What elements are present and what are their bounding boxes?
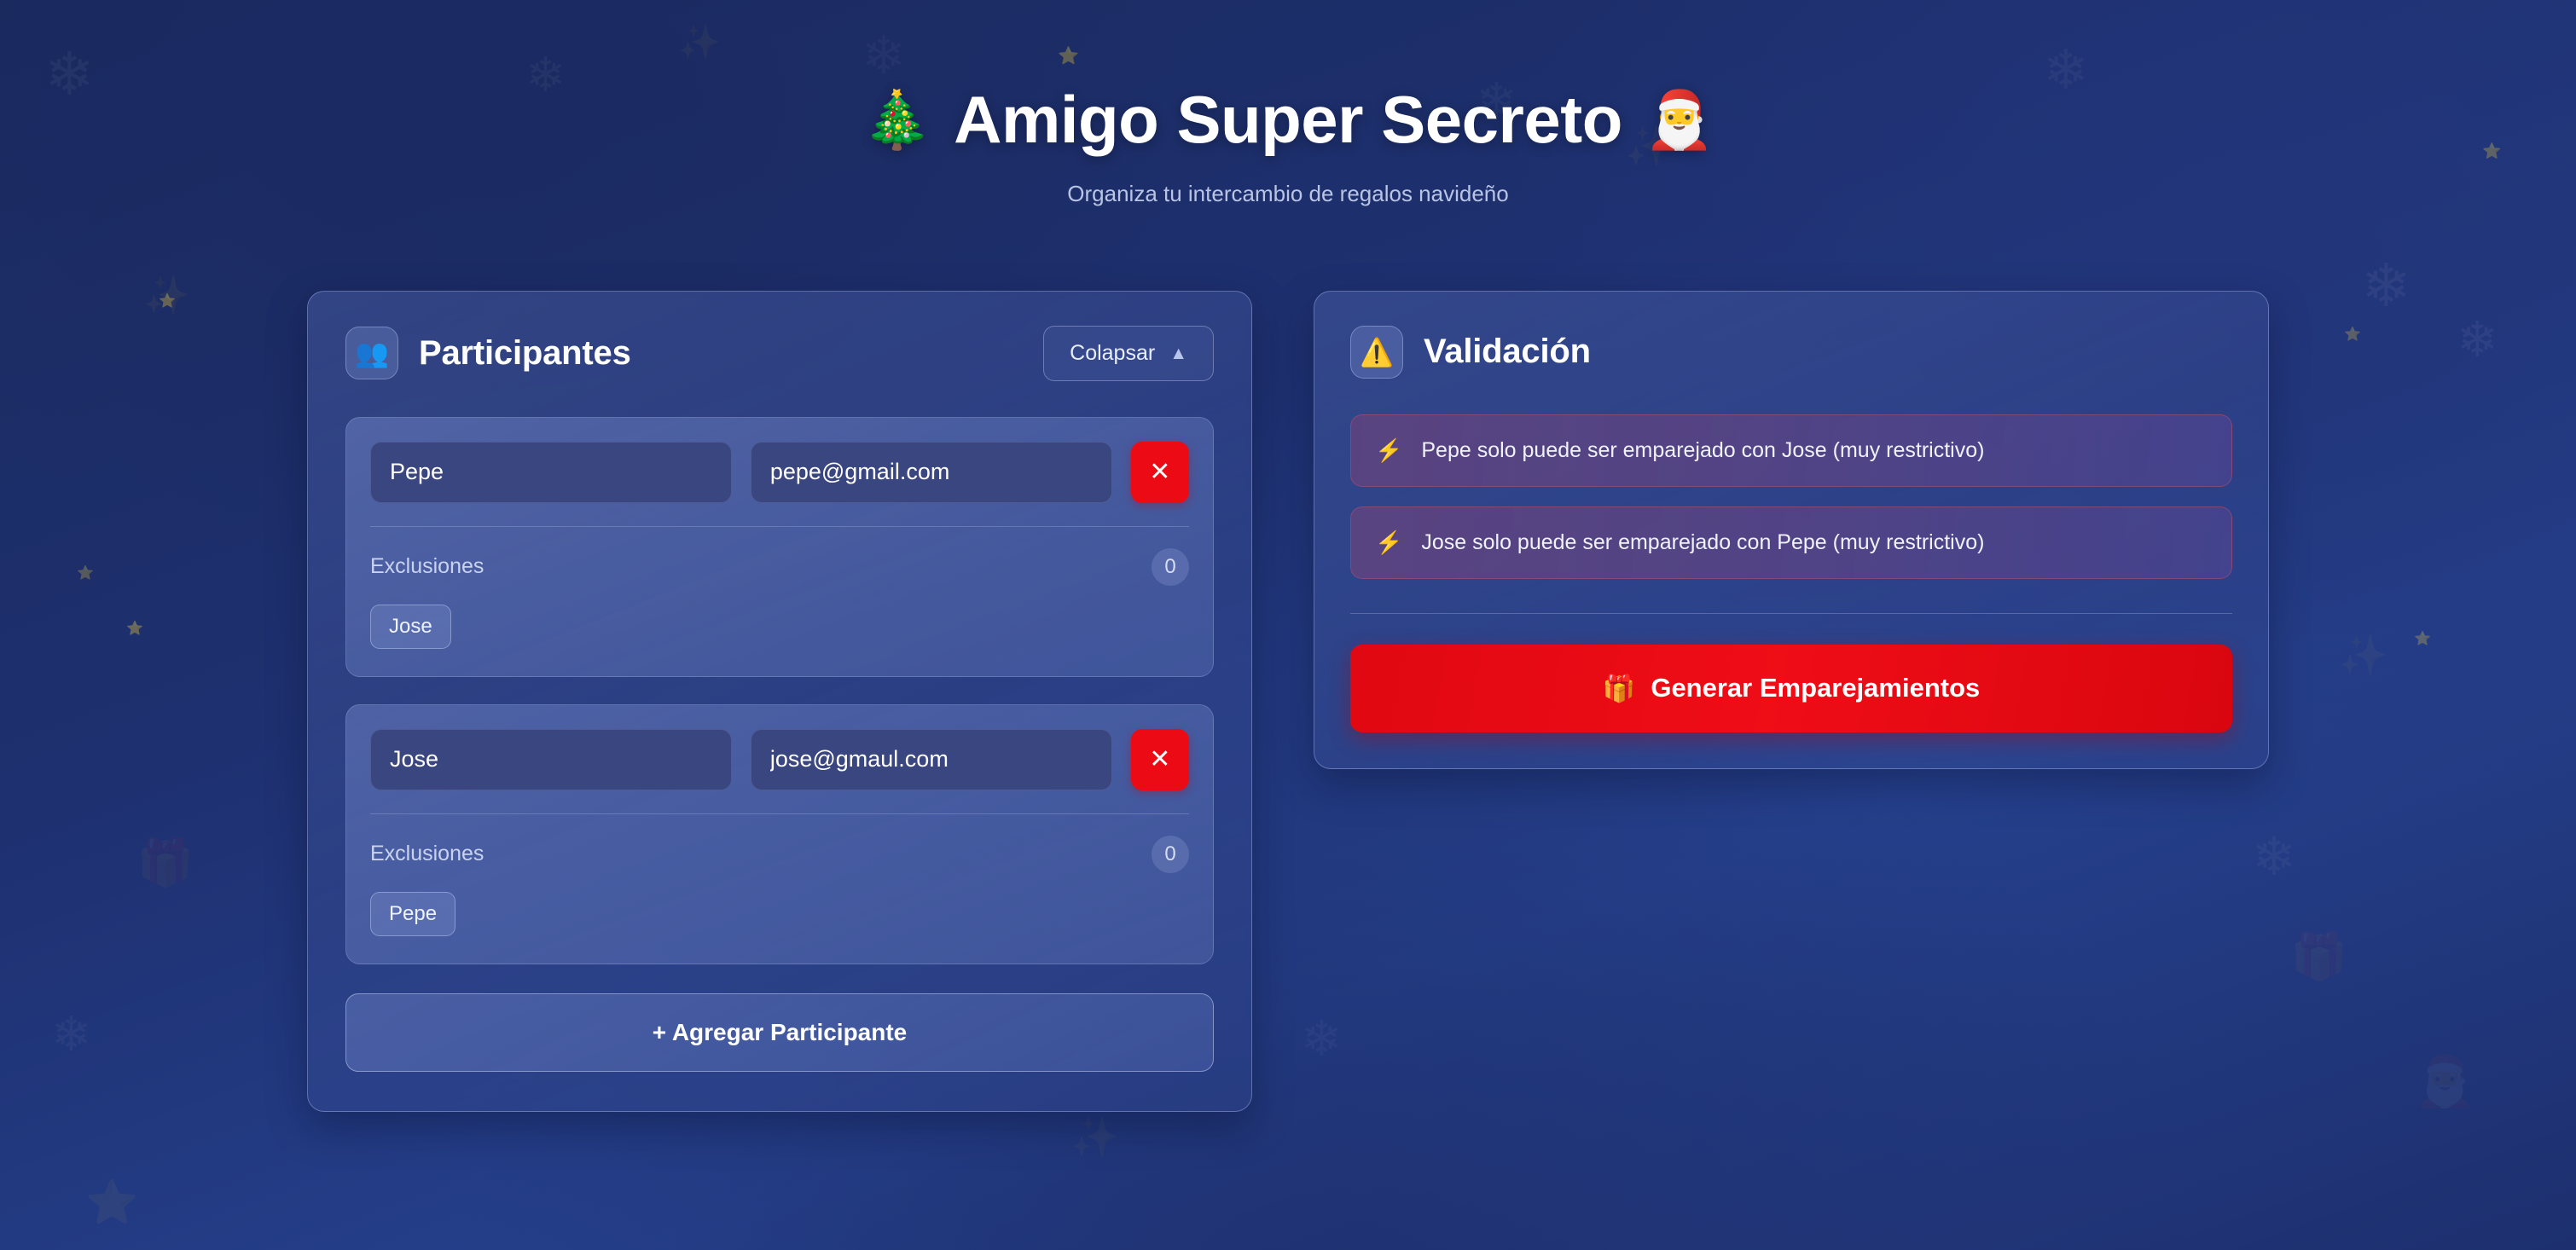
card-divider bbox=[370, 526, 1189, 527]
warning-triangle-icon: ⚠️ bbox=[1350, 326, 1403, 379]
christmas-tree-icon: 🎄 bbox=[862, 90, 931, 149]
exclusion-chips: Jose bbox=[370, 605, 1189, 649]
generate-pairings-label: Generar Emparejamientos bbox=[1651, 673, 1980, 703]
card-divider bbox=[370, 813, 1189, 814]
participants-icon: 👥 bbox=[345, 327, 398, 379]
delete-participant-button[interactable]: ✕ bbox=[1131, 442, 1189, 503]
exclusion-chips: Pepe bbox=[370, 892, 1189, 936]
exclusions-label: Exclusiones bbox=[370, 554, 484, 579]
collapse-button[interactable]: Colapsar ▲ bbox=[1043, 326, 1214, 381]
participants-title-group: 👥 Participantes bbox=[345, 327, 631, 379]
validation-warning-item: ⚡ Jose solo puede ser emparejado con Pep… bbox=[1350, 506, 2232, 579]
participant-name-input[interactable] bbox=[370, 729, 732, 790]
delete-participant-button[interactable]: ✕ bbox=[1131, 729, 1189, 790]
page-header: 🎄 Amigo Super Secreto 🎅 Organiza tu inte… bbox=[0, 85, 2576, 207]
exclusions-header: Exclusiones 0 bbox=[370, 548, 1189, 586]
participant-card: ✕ Exclusiones 0 Pepe bbox=[345, 704, 1214, 964]
validation-warning-list: ⚡ Pepe solo puede ser emparejado con Jos… bbox=[1350, 414, 2232, 579]
validation-title-group: ⚠️ Validación bbox=[1350, 326, 1591, 379]
participants-panel-header: 👥 Participantes Colapsar ▲ bbox=[345, 326, 1214, 381]
validation-panel-header: ⚠️ Validación bbox=[1350, 326, 2232, 379]
lightning-bolt-icon: ⚡ bbox=[1375, 531, 1402, 553]
exclusions-count-badge: 0 bbox=[1152, 836, 1189, 873]
chevron-up-icon: ▲ bbox=[1169, 344, 1187, 362]
participant-input-row: ✕ bbox=[370, 442, 1189, 503]
participant-card: ✕ Exclusiones 0 Jose bbox=[345, 417, 1214, 677]
page-root: 🎄 Amigo Super Secreto 🎅 Organiza tu inte… bbox=[0, 0, 2576, 1250]
participant-email-input[interactable] bbox=[751, 729, 1112, 790]
page-subtitle: Organiza tu intercambio de regalos navid… bbox=[0, 181, 2576, 207]
gift-icon: 🎁 bbox=[1603, 673, 1636, 704]
add-participant-button[interactable]: + Agregar Participante bbox=[345, 993, 1214, 1072]
exclusions-count-badge: 0 bbox=[1152, 548, 1189, 586]
page-title: 🎄 Amigo Super Secreto 🎅 bbox=[0, 85, 2576, 155]
exclusion-chip[interactable]: Pepe bbox=[370, 892, 455, 936]
participant-input-row: ✕ bbox=[370, 729, 1189, 790]
participants-panel: 👥 Participantes Colapsar ▲ ✕ bbox=[307, 291, 1252, 1112]
main-content: 👥 Participantes Colapsar ▲ ✕ bbox=[307, 207, 2269, 1112]
participants-list: ✕ Exclusiones 0 Jose bbox=[345, 417, 1214, 964]
collapse-button-label: Colapsar bbox=[1070, 341, 1155, 366]
validation-warning-text: Jose solo puede ser emparejado con Pepe … bbox=[1421, 530, 1984, 555]
validation-warning-item: ⚡ Pepe solo puede ser emparejado con Jos… bbox=[1350, 414, 2232, 487]
lightning-bolt-icon: ⚡ bbox=[1375, 439, 1402, 461]
participant-email-input[interactable] bbox=[751, 442, 1112, 503]
participant-name-input[interactable] bbox=[370, 442, 732, 503]
generate-pairings-button[interactable]: 🎁 Generar Emparejamientos bbox=[1350, 645, 2232, 732]
exclusions-label: Exclusiones bbox=[370, 842, 484, 866]
exclusions-header: Exclusiones 0 bbox=[370, 836, 1189, 873]
exclusion-chip[interactable]: Jose bbox=[370, 605, 451, 649]
validation-divider bbox=[1350, 613, 2232, 614]
page-title-text: Amigo Super Secreto bbox=[954, 85, 1622, 155]
participants-title: Participantes bbox=[419, 334, 631, 373]
validation-panel: ⚠️ Validación ⚡ Pepe solo puede ser empa… bbox=[1314, 291, 2269, 769]
santa-claus-icon: 🎅 bbox=[1645, 90, 1714, 149]
validation-title: Validación bbox=[1424, 333, 1591, 371]
validation-warning-text: Pepe solo puede ser emparejado con Jose … bbox=[1421, 438, 1984, 463]
